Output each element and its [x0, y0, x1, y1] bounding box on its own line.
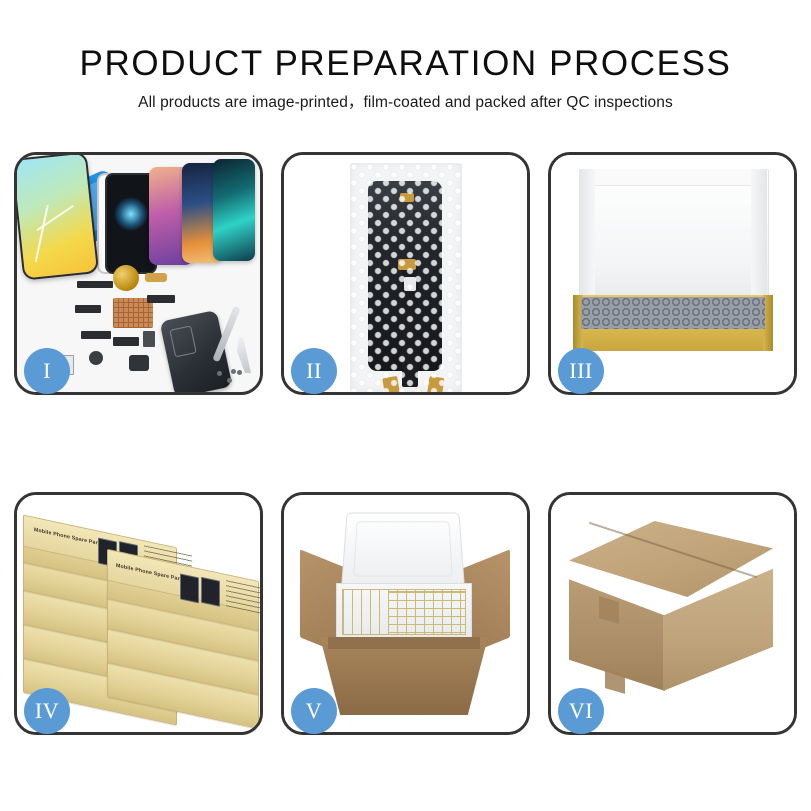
box-feature-list [226, 580, 260, 616]
lid-left-flap [579, 169, 595, 301]
process-step-card-3: III [548, 152, 797, 395]
spare-part [113, 337, 139, 346]
spare-part [89, 351, 103, 365]
process-step-card-4: Mobile Phone Spare Parts Mobile Phone Sp… [14, 492, 263, 735]
bubble-texture [350, 163, 462, 392]
step-badge-6: VI [558, 688, 604, 734]
step-badge-5: V [291, 688, 337, 734]
page-subtitle: All products are image-printed，film-coat… [0, 84, 811, 113]
process-step-card-1: I [14, 152, 263, 395]
spare-part [145, 273, 167, 282]
step-badge-4: IV [24, 688, 70, 734]
white-box-lid [579, 169, 769, 303]
step-badge-3: III [558, 348, 604, 394]
spare-part [129, 355, 149, 371]
cracked-screen-phone [17, 155, 99, 281]
teal-phone [213, 159, 255, 261]
page-title: PRODUCT PREPARATION PROCESS [0, 0, 811, 84]
screws-group [217, 369, 247, 385]
spare-part [143, 331, 155, 347]
box-screen-graphic [180, 573, 199, 603]
bubble-wrap-bag [350, 163, 462, 392]
step-badge-2: II [291, 348, 337, 394]
product-preparation-process-infographic: PRODUCT PREPARATION PROCESS All products… [0, 0, 811, 811]
spare-part [77, 281, 113, 288]
lid-right-flap [751, 169, 767, 301]
box-screen-graphic [201, 577, 220, 607]
spare-part [81, 331, 111, 339]
carton-inner-edge [328, 637, 480, 649]
spare-part [75, 305, 101, 313]
process-step-card-5: V [281, 492, 530, 735]
yellow-boxes-row [388, 591, 466, 635]
tweezers-tool [231, 337, 251, 373]
process-step-card-2: II [281, 152, 530, 395]
foam-box-lid [341, 513, 465, 587]
header: PRODUCT PREPARATION PROCESS All products… [0, 0, 811, 113]
bubble-wrap-padding [581, 297, 765, 329]
process-steps-grid: I II [14, 152, 797, 735]
step-badge-1: I [24, 348, 70, 394]
speaker-module [113, 265, 139, 291]
spare-part [147, 295, 175, 303]
lid-top-edge [579, 169, 767, 186]
process-step-card-6: VI [548, 492, 797, 735]
